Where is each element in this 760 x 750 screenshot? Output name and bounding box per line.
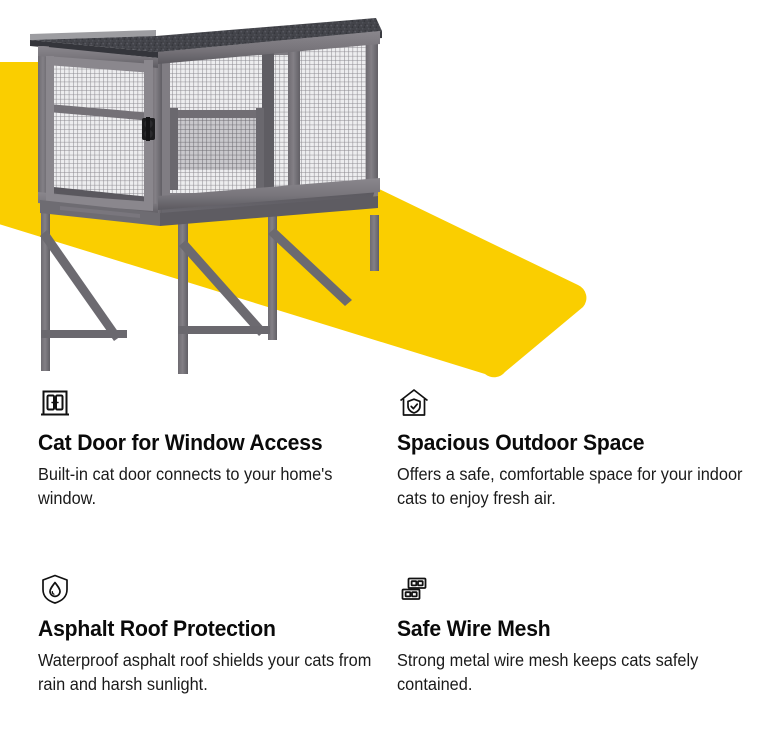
product-hero-image xyxy=(0,0,760,382)
feature-item-asphalt-roof: Asphalt Roof Protection Waterproof aspha… xyxy=(38,572,390,696)
feature-description: Built-in cat door connects to your home'… xyxy=(38,462,389,510)
hutch-door-latch xyxy=(142,117,155,141)
feature-title: Cat Door for Window Access xyxy=(38,430,369,456)
feature-description: Strong metal wire mesh keeps cats safely… xyxy=(397,648,746,696)
shield-water-drop-icon xyxy=(38,572,390,610)
feature-item-outdoor-space: Spacious Outdoor Space Offers a safe, co… xyxy=(397,386,747,510)
feature-item-cat-door: Cat Door for Window Access Built-in cat … xyxy=(38,386,390,510)
product-illustration xyxy=(0,0,760,382)
cat-door-icon xyxy=(38,386,390,424)
feature-grid: Cat Door for Window Access Built-in cat … xyxy=(0,382,760,750)
infographic-page: Cat Door for Window Access Built-in cat … xyxy=(0,0,760,750)
feature-description: Waterproof asphalt roof shields your cat… xyxy=(38,648,389,696)
wire-mesh-grid-icon xyxy=(397,572,747,610)
hutch-body xyxy=(30,18,382,226)
house-shield-check-icon xyxy=(397,386,747,424)
feature-title: Spacious Outdoor Space xyxy=(397,430,726,456)
feature-item-wire-mesh: Safe Wire Mesh Strong metal wire mesh ke… xyxy=(397,572,747,696)
feature-title: Safe Wire Mesh xyxy=(397,616,726,642)
feature-description: Offers a safe, comfortable space for you… xyxy=(397,462,746,510)
feature-title: Asphalt Roof Protection xyxy=(38,616,369,642)
